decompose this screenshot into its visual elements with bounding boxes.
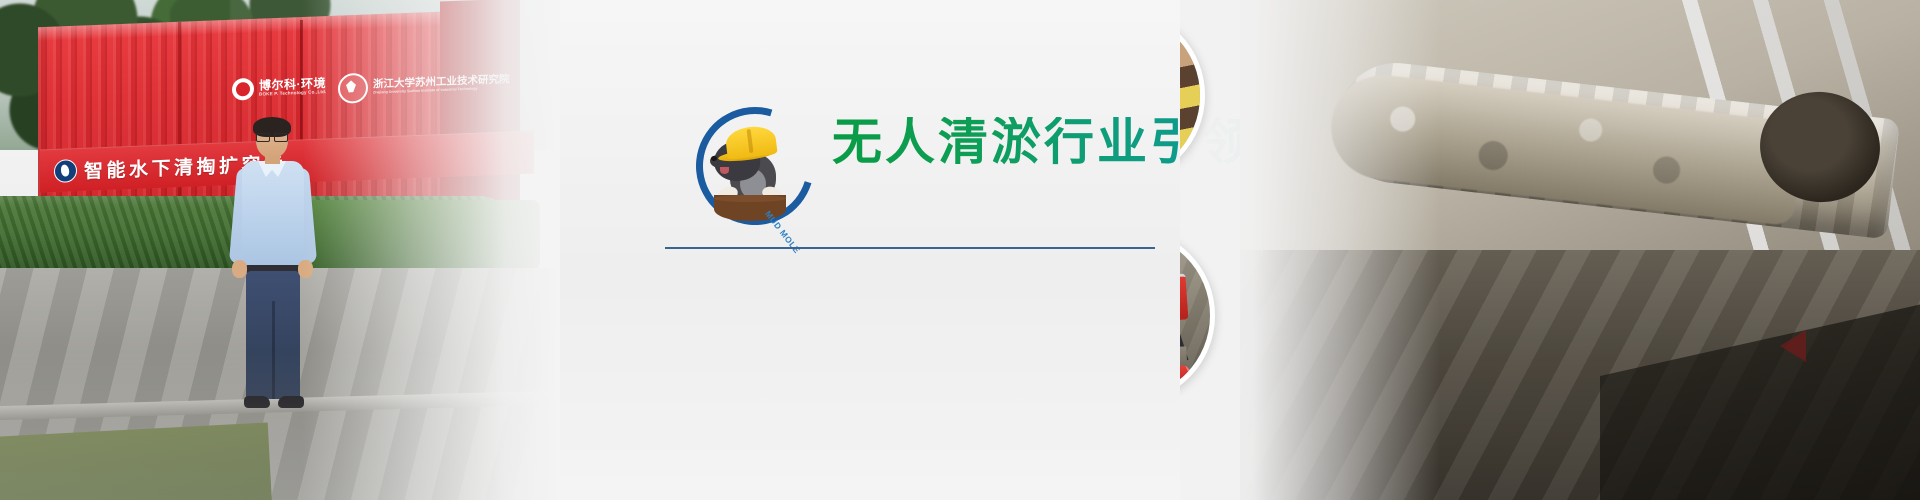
glasses-icon xyxy=(256,133,288,140)
brand-seal-icon xyxy=(232,78,254,101)
left-hand xyxy=(232,260,247,278)
right-hand xyxy=(298,260,313,278)
sludge-discharge-pipe-photo xyxy=(1240,0,1920,500)
logo-inner xyxy=(692,103,810,221)
trousers xyxy=(246,271,300,399)
grass-patch xyxy=(0,422,272,500)
brand-primary-text: 博尔科·环境 BOKE P. Technology Co.,Ltd. xyxy=(259,77,327,97)
container-brand-secondary: 浙江大学苏州工业技术研究院 Zhejiang University Suzhou… xyxy=(338,67,488,105)
shirt xyxy=(242,161,304,269)
brand-primary-sublabel: BOKE P. Technology Co.,Ltd. xyxy=(259,90,327,97)
right-shoe xyxy=(278,396,304,408)
mud-mole-logo: MUD MOLE xyxy=(692,103,810,221)
brand-headline-block: MUD MOLE 无人清淤行业引领者 xyxy=(660,95,1180,265)
mole-illustration xyxy=(710,125,788,205)
mole-mouth xyxy=(720,167,729,174)
op-technician xyxy=(1180,26,1205,183)
dredging-robot-photo xyxy=(1180,228,1215,403)
container-and-engineer-photo: 博尔科·环境 BOKE P. Technology Co.,Ltd. 浙江大学苏… xyxy=(0,0,560,500)
hero-banner: 博尔科·环境 BOKE P. Technology Co.,Ltd. 浙江大学苏… xyxy=(0,0,1920,500)
university-seal-icon xyxy=(338,73,368,104)
company-badge-icon xyxy=(54,159,77,183)
operator-with-control-case-photo xyxy=(1180,8,1205,183)
left-shoe xyxy=(244,396,270,408)
hedge-row-back xyxy=(300,200,540,270)
engineer-figure xyxy=(228,120,318,420)
arrow-marker-icon xyxy=(1780,330,1806,362)
headline-divider xyxy=(665,247,1155,249)
mole-nose xyxy=(711,156,717,161)
right-photo-group xyxy=(1180,0,1920,500)
